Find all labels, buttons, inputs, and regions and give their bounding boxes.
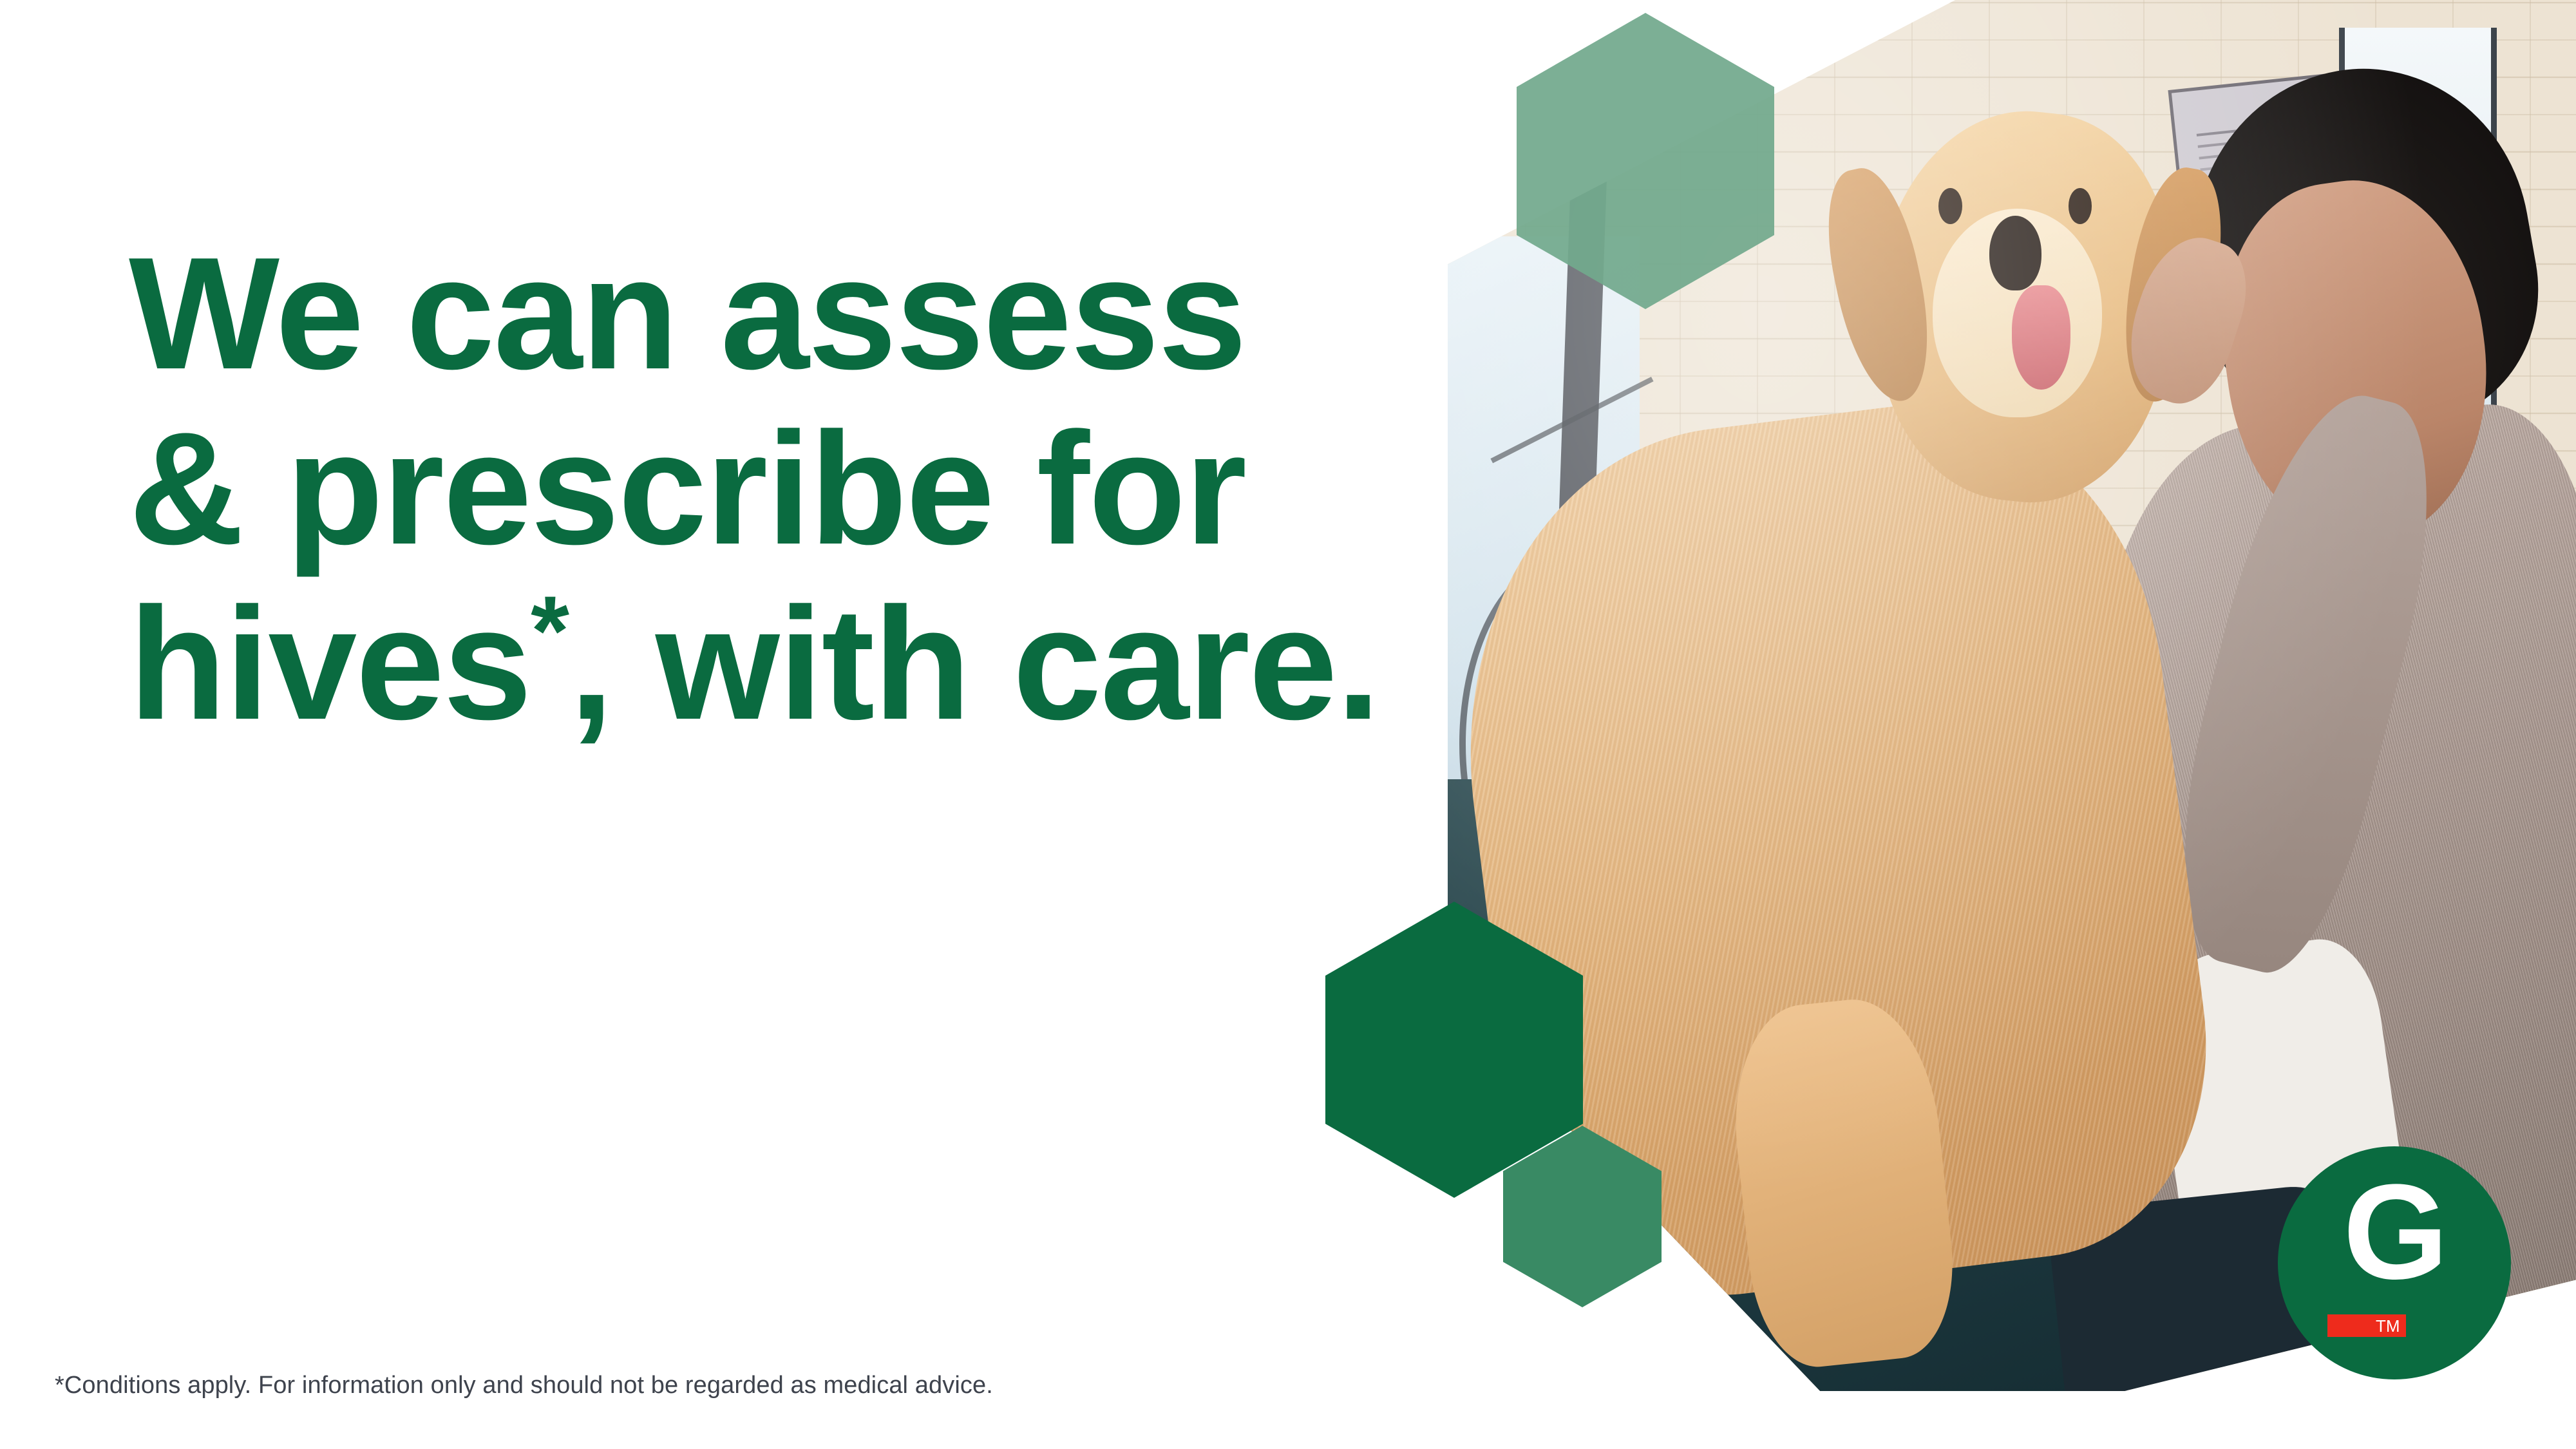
banner-canvas: We can assess & prescribe for hives*, wi… [0,0,2576,1449]
headline: We can assess & prescribe for hives*, wi… [129,225,1417,751]
headline-line-1: We can assess [129,225,1417,401]
headline-line-2: & prescribe for [129,401,1417,576]
dog-eye-right [2069,188,2092,224]
logo-trademark: TM [2376,1318,2400,1334]
dog-tongue [2012,285,2070,390]
brand-logo[interactable]: G TM [2278,1146,2511,1379]
footnote-disclaimer: *Conditions apply. For information only … [55,1372,993,1399]
headline-line-3-suffix: , with care. [569,574,1379,753]
headline-line-3: hives*, with care. [129,576,1417,751]
logo-letter-g: G [2278,1164,2511,1300]
dog-nose [1989,216,2041,291]
headline-asterisk: * [531,575,569,686]
headline-line-3-prefix: hives [129,574,531,753]
dog-eye-left [1938,188,1962,224]
